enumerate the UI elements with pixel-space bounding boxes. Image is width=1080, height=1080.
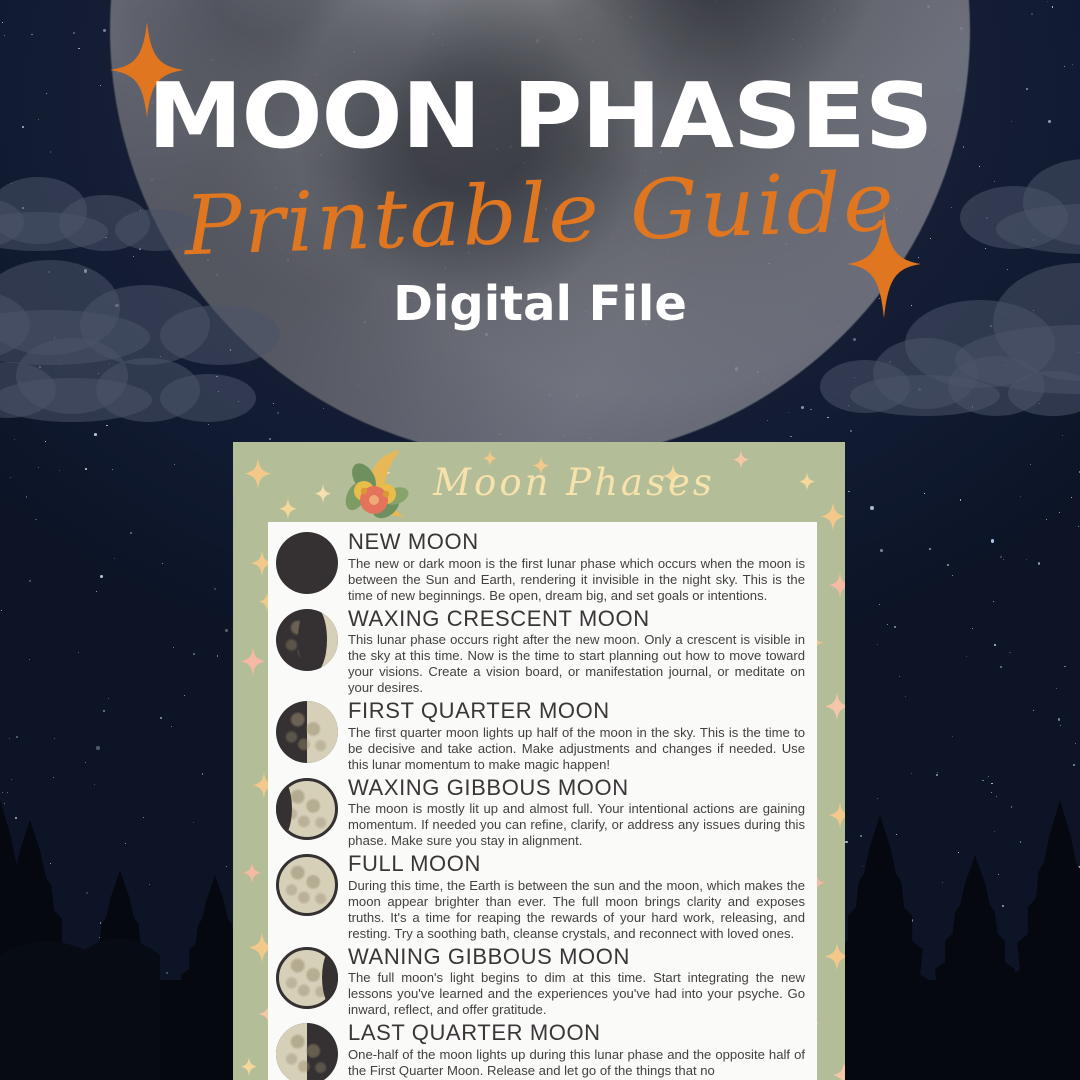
phase-description: The full moon's light begins to dim at t… [348, 970, 805, 1018]
phase-title: FIRST QUARTER MOON [348, 699, 805, 724]
phase-title: LAST QUARTER MOON [348, 1021, 805, 1046]
phase-description: The new or dark moon is the first lunar … [348, 556, 805, 604]
phase-text: FIRST QUARTER MOON The first quarter moo… [348, 699, 805, 773]
phase-row: FIRST QUARTER MOON The first quarter moo… [276, 699, 805, 773]
page-subtitle-digital-file: Digital File [0, 276, 1080, 332]
phase-row: LAST QUARTER MOON One-half of the moon l… [276, 1021, 805, 1080]
phase-text: NEW MOON The new or dark moon is the fir… [348, 530, 805, 604]
first-quarter-moon-icon [276, 701, 338, 763]
phase-description: The first quarter moon lights up half of… [348, 725, 805, 773]
card-title: Moon Phases [433, 461, 715, 504]
phase-text: LAST QUARTER MOON One-half of the moon l… [348, 1021, 805, 1079]
phase-description: The moon is mostly lit up and almost ful… [348, 801, 805, 849]
phase-text: WANING GIBBOUS MOON The full moon's ligh… [348, 945, 805, 1019]
phase-text: FULL MOON During this time, the Earth is… [348, 852, 805, 942]
waning-gibbous-moon-icon [276, 947, 338, 1009]
last-quarter-moon-icon [276, 1023, 338, 1080]
phase-title: WAXING CRESCENT MOON [348, 607, 805, 632]
printable-guide-card[interactable]: Moon Phases NEW MOON The new or dark moo… [233, 442, 845, 1080]
card-header: Moon Phases [233, 442, 845, 522]
phase-description: This lunar phase occurs right after the … [348, 632, 805, 696]
phase-text: WAXING GIBBOUS MOON The moon is mostly l… [348, 776, 805, 850]
phase-row: WAXING GIBBOUS MOON The moon is mostly l… [276, 776, 805, 850]
phase-description: One-half of the moon lights up during th… [348, 1047, 805, 1079]
new-moon-icon [276, 532, 338, 594]
page-title: MOON PHASES [0, 72, 1080, 162]
waxing-gibbous-moon-icon [276, 778, 338, 840]
phase-title: WANING GIBBOUS MOON [348, 945, 805, 970]
page-subtitle-script: Printable Guide [0, 152, 1080, 277]
phase-text: WAXING CRESCENT MOON This lunar phase oc… [348, 607, 805, 697]
phase-row: NEW MOON The new or dark moon is the fir… [276, 530, 805, 604]
poster-stage: MOON PHASES Printable Guide Digital File [0, 0, 1080, 1080]
phase-row: WAXING CRESCENT MOON This lunar phase oc… [276, 607, 805, 697]
phase-description: During this time, the Earth is between t… [348, 878, 805, 942]
phase-title: NEW MOON [348, 530, 805, 555]
phases-sheet: NEW MOON The new or dark moon is the fir… [268, 522, 817, 1080]
poster-headline: MOON PHASES Printable Guide Digital File [0, 72, 1080, 332]
phase-row: FULL MOON During this time, the Earth is… [276, 852, 805, 942]
floral-crescent-moon-icon [338, 444, 433, 524]
full-moon-icon [276, 854, 338, 916]
phase-title: WAXING GIBBOUS MOON [348, 776, 805, 801]
phase-title: FULL MOON [348, 852, 805, 877]
waxing-crescent-moon-icon [276, 609, 338, 671]
phase-row: WANING GIBBOUS MOON The full moon's ligh… [276, 945, 805, 1019]
